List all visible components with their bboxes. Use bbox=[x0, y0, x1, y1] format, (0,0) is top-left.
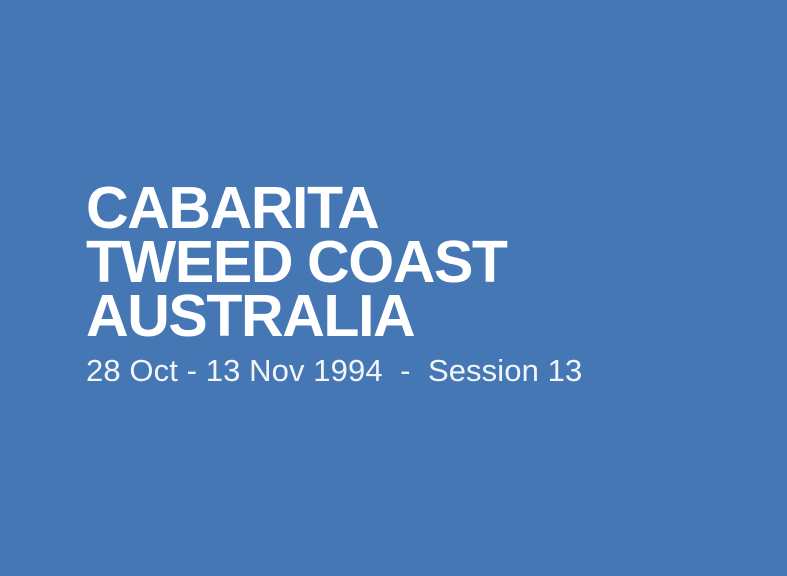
page-title: CABARITA TWEED COAST AUSTRALIA bbox=[86, 181, 726, 343]
headline-line-2: TWEED COAST bbox=[86, 235, 726, 289]
headline-line-1: CABARITA bbox=[86, 181, 726, 235]
headline-line-3: AUSTRALIA bbox=[86, 289, 726, 343]
subtitle-date-session: 28 Oct - 13 Nov 1994 - Session 13 bbox=[86, 354, 726, 388]
title-block: CABARITA TWEED COAST AUSTRALIA 28 Oct - … bbox=[86, 181, 726, 388]
title-slide: CABARITA TWEED COAST AUSTRALIA 28 Oct - … bbox=[0, 0, 787, 576]
